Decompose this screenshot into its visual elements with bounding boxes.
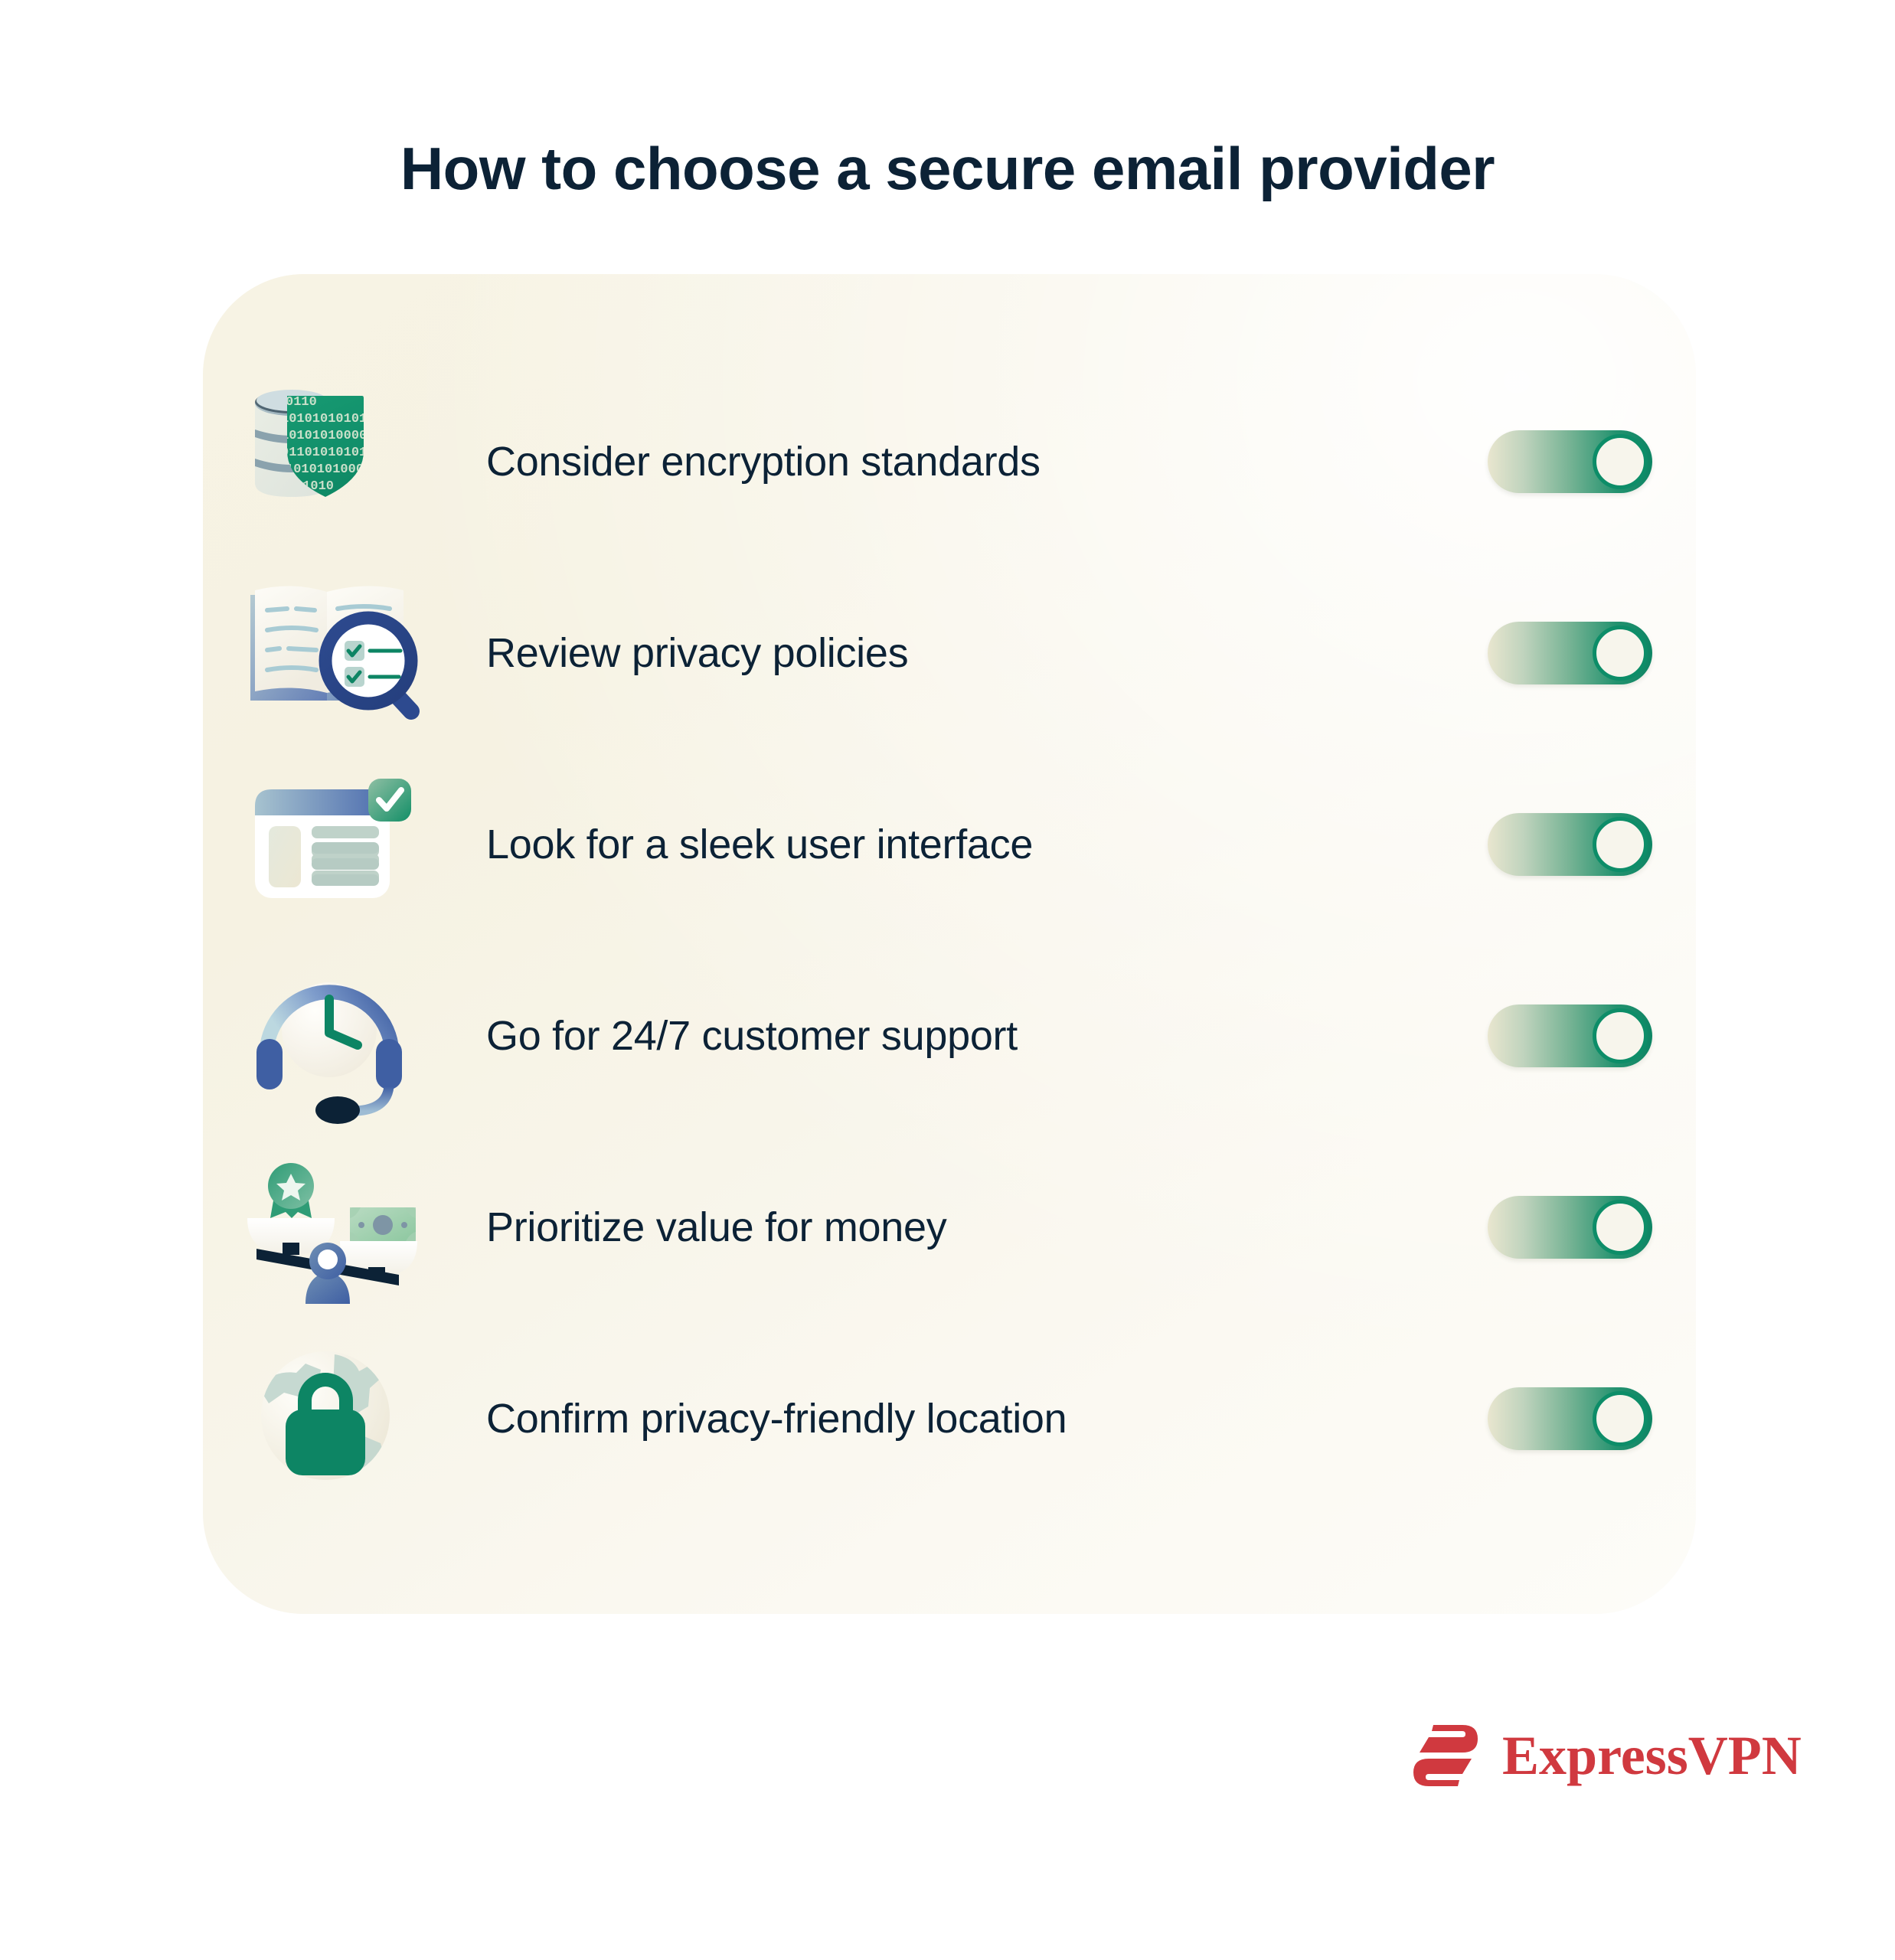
toggle-customer-support[interactable] bbox=[1488, 1004, 1652, 1067]
toggle-cell bbox=[1443, 813, 1696, 876]
toggle-encryption-standards[interactable] bbox=[1488, 430, 1652, 493]
toggle-knob bbox=[1593, 1391, 1648, 1446]
checklist-card: 0110 10101010101 10101010000 01101010101… bbox=[203, 274, 1696, 1614]
toggle-cell bbox=[1443, 622, 1696, 684]
icon-cell: 0110 10101010101 10101010000 01101010101… bbox=[203, 366, 456, 557]
toggle-knob bbox=[1593, 434, 1648, 489]
toggle-cell bbox=[1443, 1004, 1696, 1067]
list-item[interactable]: Go for 24/7 customer support bbox=[203, 940, 1696, 1132]
expressvpn-logo-icon bbox=[1409, 1719, 1482, 1792]
icon-cell bbox=[203, 940, 456, 1132]
list-item-label: Prioritize value for money bbox=[456, 1204, 1443, 1251]
toggle-privacy-friendly-location[interactable] bbox=[1488, 1387, 1652, 1450]
page-title: How to choose a secure email provider bbox=[0, 135, 1895, 204]
icon-cell bbox=[203, 1132, 456, 1323]
balance-scale-medal-money-icon bbox=[241, 1151, 417, 1304]
list-item[interactable]: Look for a sleek user interface bbox=[203, 749, 1696, 940]
svg-text:0110: 0110 bbox=[286, 395, 317, 410]
infographic-page: How to choose a secure email provider bbox=[0, 0, 1895, 1960]
toggle-privacy-policies[interactable] bbox=[1488, 622, 1652, 684]
icon-cell bbox=[203, 557, 456, 749]
toggle-knob bbox=[1593, 1200, 1648, 1255]
open-book-magnifier-checklist-icon bbox=[241, 577, 417, 730]
list-item-label: Consider encryption standards bbox=[456, 438, 1443, 485]
expressvpn-wordmark: ExpressVPN bbox=[1502, 1728, 1802, 1783]
ui-window-check-badge-icon bbox=[241, 768, 417, 921]
toggle-cell bbox=[1443, 1387, 1696, 1450]
database-shield-binary-icon: 0110 10101010101 10101010000 01101010101… bbox=[241, 385, 417, 538]
toggle-value-for-money[interactable] bbox=[1488, 1196, 1652, 1259]
toggle-cell bbox=[1443, 430, 1696, 493]
toggle-sleek-user-interface[interactable] bbox=[1488, 813, 1652, 876]
toggle-knob bbox=[1593, 626, 1648, 681]
icon-cell bbox=[203, 1323, 456, 1514]
svg-text:10101010000: 10101010000 bbox=[281, 429, 367, 443]
icon-cell bbox=[203, 749, 456, 940]
list-item[interactable]: Prioritize value for money bbox=[203, 1132, 1696, 1323]
toggle-knob bbox=[1593, 1008, 1648, 1063]
expressvpn-logo: ExpressVPN bbox=[1409, 1719, 1802, 1792]
list-item[interactable]: Confirm privacy-friendly location bbox=[203, 1323, 1696, 1514]
list-item-label: Look for a sleek user interface bbox=[456, 821, 1443, 868]
headset-clock-icon bbox=[241, 959, 417, 1112]
list-item[interactable]: Review privacy policies bbox=[203, 557, 1696, 749]
svg-text:01101010101: 01101010101 bbox=[281, 446, 367, 460]
toggle-cell bbox=[1443, 1196, 1696, 1259]
list-item-label: Confirm privacy-friendly location bbox=[456, 1395, 1443, 1442]
svg-text:10101010101: 10101010101 bbox=[281, 412, 367, 426]
list-item-label: Go for 24/7 customer support bbox=[456, 1012, 1443, 1060]
list-item[interactable]: 0110 10101010101 10101010000 01101010101… bbox=[203, 366, 1696, 557]
list-item-label: Review privacy policies bbox=[456, 629, 1443, 677]
globe-padlock-icon bbox=[241, 1342, 417, 1495]
toggle-knob bbox=[1593, 817, 1648, 872]
svg-text:1010101000: 1010101000 bbox=[286, 462, 364, 477]
